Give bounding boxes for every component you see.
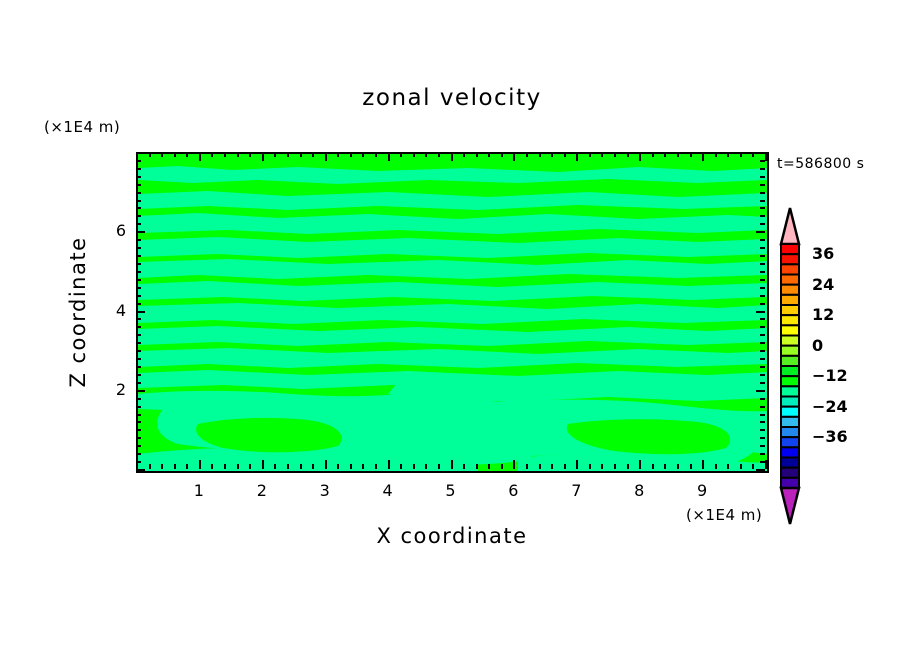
axis-tick [362, 152, 364, 157]
colorbar-tick-label: 36 [812, 244, 834, 263]
axis-tick [727, 464, 729, 469]
axis-tick [740, 152, 742, 157]
axis-tick [760, 271, 765, 273]
axis-tick [501, 152, 503, 157]
axis-tick [199, 460, 201, 469]
axis-tick [136, 152, 145, 154]
axis-tick [136, 247, 141, 249]
axis-tick [476, 152, 478, 157]
axis-tick [476, 464, 478, 469]
axis-tick [526, 152, 528, 157]
axis-tick [463, 152, 465, 157]
axis-tick [136, 469, 145, 471]
axis-tick [337, 464, 339, 469]
axis-tick [756, 469, 765, 471]
axis-tick [760, 255, 765, 257]
axis-tick [760, 350, 765, 352]
x-tick-label: 9 [682, 481, 722, 500]
axis-tick [136, 398, 141, 400]
colorbar-tick-label: 24 [812, 275, 834, 294]
axis-tick [702, 152, 704, 161]
axis-tick [136, 318, 141, 320]
axis-tick [413, 464, 415, 469]
axis-tick [727, 152, 729, 157]
axis-tick [136, 342, 141, 344]
x-tick-label: 8 [619, 481, 659, 500]
axis-tick [136, 366, 141, 368]
axis-tick [451, 152, 453, 161]
colorbar-tick-label: 12 [812, 305, 834, 324]
axis-tick [760, 318, 765, 320]
axis-tick [760, 200, 765, 202]
axis-tick [388, 152, 390, 161]
axis-tick [174, 464, 176, 469]
axis-tick [136, 414, 141, 416]
x-axis-unit-label: (×1E4 m) [686, 506, 762, 524]
axis-tick [752, 464, 754, 469]
axis-tick [513, 152, 515, 161]
axis-tick [760, 287, 765, 289]
axis-tick [760, 358, 765, 360]
axis-tick [136, 176, 141, 178]
axis-tick [702, 460, 704, 469]
axis-tick [136, 287, 141, 289]
axis-tick [375, 152, 377, 157]
axis-tick [350, 152, 352, 157]
colorbar-tick-label: −36 [812, 427, 848, 446]
axis-tick [756, 311, 765, 313]
axis-tick [627, 152, 629, 157]
axis-tick [539, 152, 541, 157]
axis-tick [136, 160, 141, 162]
axis-tick [760, 437, 765, 439]
axis-tick [136, 207, 141, 209]
axis-tick [756, 152, 765, 154]
axis-tick [526, 464, 528, 469]
axis-tick [760, 176, 765, 178]
axis-tick [760, 342, 765, 344]
y-tick-label: 6 [100, 221, 126, 240]
axis-tick [174, 152, 176, 157]
axis-tick [677, 464, 679, 469]
axis-tick [760, 382, 765, 384]
axis-tick [463, 464, 465, 469]
axis-tick [760, 215, 765, 217]
axis-tick [388, 460, 390, 469]
axis-tick [715, 464, 717, 469]
axis-tick [186, 464, 188, 469]
axis-tick [136, 279, 141, 281]
axis-tick [601, 464, 603, 469]
axis-tick [760, 192, 765, 194]
axis-tick [488, 152, 490, 157]
axis-tick [337, 152, 339, 157]
axis-tick [249, 152, 251, 157]
axis-tick [760, 279, 765, 281]
axis-tick [564, 464, 566, 469]
axis-tick [765, 152, 767, 161]
axis-tick [760, 184, 765, 186]
axis-tick [765, 460, 767, 469]
axis-tick [136, 453, 141, 455]
axis-tick [211, 464, 213, 469]
axis-tick [287, 464, 289, 469]
axis-tick [760, 263, 765, 265]
axis-tick [690, 152, 692, 157]
axis-tick [438, 464, 440, 469]
axis-tick [760, 453, 765, 455]
timestamp-label: t=586800 s [777, 156, 864, 172]
axis-tick [300, 464, 302, 469]
axis-tick [161, 464, 163, 469]
colorbar-tick-label: −24 [812, 397, 848, 416]
axis-tick [375, 464, 377, 469]
axis-tick [639, 460, 641, 469]
axis-tick [262, 152, 264, 161]
axis-tick [149, 464, 151, 469]
axis-tick [760, 398, 765, 400]
x-axis-title: X coordinate [0, 524, 904, 548]
axis-tick [756, 231, 765, 233]
axis-tick [136, 263, 141, 265]
axis-tick [312, 152, 314, 157]
axis-tick [652, 152, 654, 157]
axis-tick [760, 334, 765, 336]
y-axis-unit-label: (×1E4 m) [44, 118, 120, 136]
axis-tick [576, 152, 578, 161]
axis-tick [760, 429, 765, 431]
axis-tick [312, 464, 314, 469]
axis-tick [136, 445, 141, 447]
x-tick-label: 2 [242, 481, 282, 500]
axis-tick [614, 464, 616, 469]
axis-tick [760, 239, 765, 241]
axis-tick [760, 303, 765, 305]
axis-tick [664, 464, 666, 469]
x-tick-label: 7 [556, 481, 596, 500]
axis-tick [136, 358, 141, 360]
axis-tick [136, 215, 141, 217]
axis-tick [488, 464, 490, 469]
y-axis-title: Z coordinate [66, 212, 90, 412]
axis-tick [237, 464, 239, 469]
axis-tick [760, 421, 765, 423]
axis-tick [325, 460, 327, 469]
axis-tick [136, 437, 141, 439]
colorbar-tick-label: −12 [812, 366, 848, 385]
axis-tick [760, 445, 765, 447]
axis-tick [136, 200, 141, 202]
axis-tick [551, 464, 553, 469]
axis-tick [136, 382, 141, 384]
axis-tick [639, 152, 641, 161]
axis-tick [425, 464, 427, 469]
axis-tick [760, 247, 765, 249]
axis-tick [161, 152, 163, 157]
axis-tick [760, 366, 765, 368]
axis-tick [760, 461, 765, 463]
axis-tick [136, 390, 145, 392]
colorbar[interactable] [778, 206, 802, 526]
x-tick-label: 5 [431, 481, 471, 500]
axis-tick [136, 406, 141, 408]
axis-tick [136, 223, 141, 225]
colorbar-labels: 3624120−12−24−36 [812, 206, 882, 526]
axis-tick [715, 152, 717, 157]
x-tick-label: 6 [493, 481, 533, 500]
axis-tick [211, 152, 213, 157]
axis-tick [652, 464, 654, 469]
axis-tick [425, 152, 427, 157]
axis-tick [136, 184, 141, 186]
axis-tick [576, 460, 578, 469]
contour-field [138, 154, 767, 471]
y-tick-label: 4 [100, 301, 126, 320]
axis-tick [614, 152, 616, 157]
axis-tick [224, 464, 226, 469]
axis-tick [760, 207, 765, 209]
axis-tick [136, 334, 141, 336]
axis-tick [325, 152, 327, 161]
axis-tick [362, 464, 364, 469]
axis-tick [690, 464, 692, 469]
axis-tick [539, 464, 541, 469]
axis-tick [136, 350, 141, 352]
axis-tick [237, 152, 239, 157]
x-tick-label: 3 [305, 481, 345, 500]
axis-tick [760, 160, 765, 162]
axis-tick [136, 192, 141, 194]
axis-tick [274, 152, 276, 157]
axis-tick [760, 168, 765, 170]
axis-tick [199, 152, 201, 161]
axis-tick [760, 414, 765, 416]
axis-tick [589, 464, 591, 469]
axis-tick [136, 421, 141, 423]
colorbar-tick-label: 0 [812, 336, 823, 355]
axis-tick [413, 152, 415, 157]
plot-area [136, 152, 769, 473]
axis-tick [564, 152, 566, 157]
axis-tick [136, 255, 141, 257]
axis-tick [136, 168, 141, 170]
axis-tick [438, 152, 440, 157]
axis-tick [756, 390, 765, 392]
axis-tick [740, 464, 742, 469]
y-tick-label: 2 [100, 380, 126, 399]
axis-tick [664, 152, 666, 157]
axis-tick [149, 152, 151, 157]
axis-tick [400, 152, 402, 157]
axis-tick [760, 406, 765, 408]
axis-tick [752, 152, 754, 157]
axis-tick [136, 429, 141, 431]
axis-tick [601, 152, 603, 157]
axis-tick [451, 460, 453, 469]
axis-tick [400, 464, 402, 469]
axis-tick [300, 152, 302, 157]
axis-tick [627, 464, 629, 469]
axis-tick [760, 374, 765, 376]
axis-tick [677, 152, 679, 157]
axis-tick [501, 464, 503, 469]
axis-tick [249, 464, 251, 469]
axis-tick [136, 461, 141, 463]
axis-tick [136, 239, 141, 241]
axis-tick [350, 464, 352, 469]
axis-tick [136, 231, 145, 233]
page-title: zonal velocity [0, 85, 904, 111]
x-tick-label: 1 [179, 481, 219, 500]
axis-tick [136, 303, 141, 305]
axis-tick [760, 223, 765, 225]
axis-tick [589, 152, 591, 157]
axis-tick [136, 374, 141, 376]
axis-tick [224, 152, 226, 157]
axis-tick [513, 460, 515, 469]
x-tick-label: 4 [368, 481, 408, 500]
axis-tick [287, 152, 289, 157]
axis-tick [760, 295, 765, 297]
axis-tick [136, 271, 141, 273]
axis-tick [136, 295, 141, 297]
axis-tick [186, 152, 188, 157]
axis-tick [136, 326, 141, 328]
axis-tick [274, 464, 276, 469]
axis-tick [551, 152, 553, 157]
axis-tick [760, 326, 765, 328]
axis-tick [262, 460, 264, 469]
axis-tick [136, 311, 145, 313]
